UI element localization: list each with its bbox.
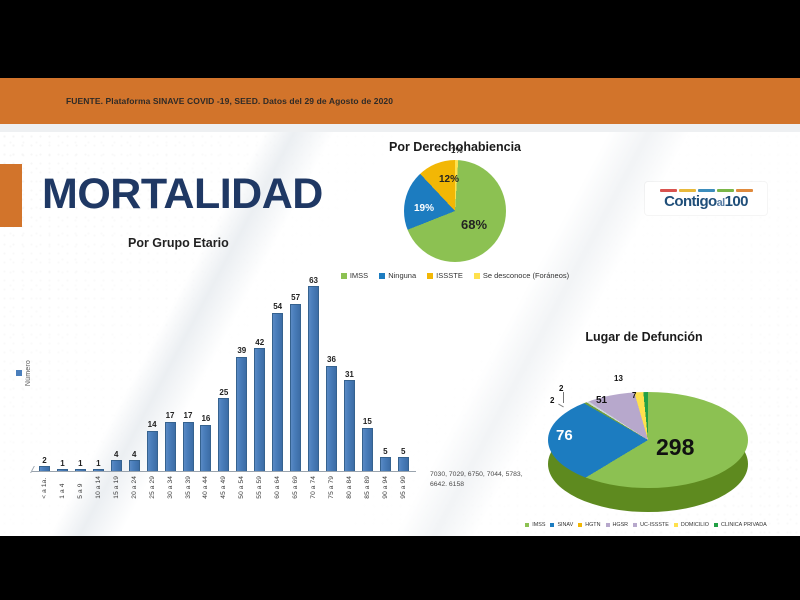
- x-tick: 80 a 84: [343, 476, 356, 499]
- pie2-leader-line-1: [563, 392, 564, 403]
- legend-color-swatch-icon: [379, 273, 385, 279]
- pie2-legend-item: UC-ISSSTE: [633, 522, 669, 528]
- pie1-legend-item: IMSS: [341, 271, 368, 280]
- y-axis-label: Número: [25, 360, 32, 386]
- page-title: MORTALIDAD: [42, 170, 323, 219]
- x-tick: 1 a 4: [56, 476, 69, 499]
- bar-value-label: 15: [363, 418, 372, 426]
- pie2-legend-item: SINAV: [550, 522, 573, 528]
- bar-column: 42: [253, 264, 266, 472]
- bar-rect: [326, 366, 337, 472]
- bar-column: 16: [199, 264, 212, 472]
- pie1-value-issste: 12%: [439, 174, 459, 185]
- x-tick: 30 a 34: [164, 476, 177, 499]
- bar-value-label: 25: [219, 389, 228, 397]
- x-tick-label: 50 a 54: [238, 476, 245, 499]
- logo-dash: [698, 189, 715, 192]
- pie2-legend-label: HGSR: [613, 522, 629, 528]
- slide-viewport: FUENTE. Plataforma SINAVE COVID -19, SEE…: [0, 0, 800, 600]
- pie2-legend-label: UC-ISSSTE: [640, 522, 669, 528]
- logo-text-contigo: Contigo: [664, 193, 716, 210]
- pie2-value-ucissste: 2: [550, 397, 554, 405]
- pie2-value-clinica-privada: 7: [632, 392, 636, 400]
- x-tick-label: 45 a 49: [220, 476, 227, 499]
- x-tick-label: 30 a 34: [167, 476, 174, 499]
- pie2-legend-item: DOMICILIO: [674, 522, 709, 528]
- bar-column: 39: [235, 264, 248, 472]
- bar-rect: [200, 425, 211, 472]
- pie2-legend-item: IMSS: [525, 522, 545, 528]
- x-tick: 5 a 9: [74, 476, 87, 499]
- x-tick: 60 a 64: [271, 476, 284, 499]
- pie1-value-desconoce: 1%: [451, 146, 463, 155]
- bar-value-label: 4: [132, 451, 136, 459]
- bar-value-label: 17: [166, 412, 175, 420]
- bar-column: 2: [38, 264, 51, 472]
- letterbox-top: [0, 0, 800, 78]
- pie1-value-imss: 68%: [461, 217, 487, 232]
- x-tick-label: 55 a 59: [256, 476, 263, 499]
- bar-rect: [344, 380, 355, 472]
- x-tick-label: 15 a 19: [113, 476, 120, 499]
- logo-text-al: al: [717, 197, 725, 209]
- x-tick: < a 1a.: [38, 476, 51, 499]
- x-tick-label: 65 a 69: [292, 476, 299, 499]
- pie1-legend-label: Ninguna: [388, 271, 416, 280]
- legend-color-swatch-icon: [578, 523, 582, 527]
- bar-value-label: 1: [78, 460, 82, 468]
- y-axis-legend: Número: [16, 360, 32, 386]
- logo-wordmark: Contigoal100: [664, 194, 748, 209]
- legend-color-swatch-icon: [550, 523, 554, 527]
- x-tick: 70 a 74: [307, 476, 320, 499]
- bar-column: 25: [217, 264, 230, 472]
- bar-value-label: 5: [383, 448, 387, 456]
- pie2-value-hgsr: 51: [596, 396, 607, 406]
- x-tick-label: 90 a 94: [382, 476, 389, 499]
- contigo-al-100-logo: Contigoal100: [645, 182, 767, 215]
- x-tick: 85 a 89: [361, 476, 374, 499]
- legend-color-swatch-icon: [474, 273, 480, 279]
- bar-value-label: 42: [255, 339, 264, 347]
- logo-dash: [717, 189, 734, 192]
- logo-text-100: 100: [725, 193, 748, 210]
- x-tick: 45 a 49: [217, 476, 230, 499]
- x-tick: 95 a 99: [397, 476, 410, 499]
- bar-value-label: 5: [401, 448, 405, 456]
- bar-rect: [236, 357, 247, 472]
- pie2-value-domicilio: 13: [614, 375, 623, 383]
- bar-value-label: 39: [237, 347, 246, 355]
- slide-content: MORTALIDAD Contigoal100 Por Grupo Etario…: [0, 132, 800, 536]
- bar-value-label: 63: [309, 277, 318, 285]
- pie2-legend-label: SINAV: [557, 522, 573, 528]
- bar-column: 14: [146, 264, 159, 472]
- source-band: FUENTE. Plataforma SINAVE COVID -19, SEE…: [0, 78, 800, 124]
- bar-column: 1: [74, 264, 87, 472]
- bar-rect: [254, 348, 265, 472]
- x-tick: 40 a 44: [199, 476, 212, 499]
- pie1-legend: IMSSNingunaISSSTESe desconoce (Foráneos): [330, 271, 580, 280]
- pie1-value-ninguna: 19%: [414, 203, 434, 214]
- title-accent-block: [0, 164, 22, 227]
- pie1-graphic: 68% 19% 12% 1%: [404, 160, 506, 262]
- bar-value-label: 4: [114, 451, 118, 459]
- bar-rect: [272, 313, 283, 472]
- x-axis-tick-labels: < a 1a.1 a 45 a 910 a 1415 a 1920 a 2425…: [38, 476, 410, 499]
- bar-column: 4: [110, 264, 123, 472]
- pie2-top-face: [548, 392, 748, 488]
- bar-column: 54: [271, 264, 284, 472]
- pie2-legend-item: CLINICA PRIVADA: [714, 522, 767, 528]
- pie2-legend-item: HGSR: [606, 522, 629, 528]
- bar-chart-title: Por Grupo Etario: [128, 236, 229, 250]
- pie2-graphic: 298 76 51 13 7 2 2: [488, 344, 800, 519]
- x-tick-label: 5 a 9: [77, 476, 84, 499]
- legend-color-swatch-icon: [714, 523, 718, 527]
- x-tick-label: 35 a 39: [185, 476, 192, 499]
- legend-color-swatch-icon: [633, 523, 637, 527]
- pie1-legend-label: IMSS: [350, 271, 368, 280]
- x-tick-label: < a 1a.: [41, 476, 48, 499]
- bar-rect: [398, 457, 409, 472]
- x-tick-label: 85 a 89: [364, 476, 371, 499]
- x-tick-label: 20 a 24: [131, 476, 138, 499]
- x-tick-label: 60 a 64: [274, 476, 281, 499]
- x-tick: 55 a 59: [253, 476, 266, 499]
- pie2-note: 7030, 7029, 6750, 7044, 5783, 6642. 6158: [430, 470, 540, 490]
- bar-rect: [183, 422, 194, 472]
- pie2-title: Lugar de Defunción: [488, 330, 800, 344]
- bar-value-label: 17: [184, 412, 193, 420]
- legend-color-swatch-icon: [525, 523, 529, 527]
- x-tick: 35 a 39: [182, 476, 195, 499]
- bar-value-label: 36: [327, 356, 336, 364]
- x-tick: 90 a 94: [379, 476, 392, 499]
- x-tick: 65 a 69: [289, 476, 302, 499]
- pie2-value-imss: 298: [656, 436, 694, 459]
- logo-dash: [736, 189, 753, 192]
- pie2-legend-item: HGTN: [578, 522, 600, 528]
- bar-rect: [165, 422, 176, 472]
- pie1-legend-item: Se desconoce (Foráneos): [474, 271, 569, 280]
- bar-value-label: 57: [291, 294, 300, 302]
- bar-column: 17: [164, 264, 177, 472]
- x-tick-label: 95 a 99: [400, 476, 407, 499]
- pie2-value-sinav: 76: [556, 428, 573, 443]
- pie2-legend-label: IMSS: [532, 522, 545, 528]
- bar-column: 57: [289, 264, 302, 472]
- letterbox-bottom: [0, 536, 800, 600]
- legend-color-swatch-icon: [427, 273, 433, 279]
- legend-color-swatch-icon: [341, 273, 347, 279]
- x-tick-label: 75 a 79: [328, 476, 335, 499]
- bar-value-label: 16: [201, 415, 210, 423]
- pie2-legend-label: DOMICILIO: [681, 522, 709, 528]
- x-tick-label: 10 a 14: [95, 476, 102, 499]
- bar-value-label: 54: [273, 303, 282, 311]
- logo-dash: [660, 189, 677, 192]
- logo-dash: [679, 189, 696, 192]
- bar-value-label: 14: [148, 421, 157, 429]
- x-tick-label: 25 a 29: [149, 476, 156, 499]
- pie2-legend: IMSSSINAVHGTNHGSRUC-ISSSTEDOMICILIOCLINI…: [492, 522, 800, 528]
- pie1-legend-label: Se desconoce (Foráneos): [483, 271, 569, 280]
- legend-color-swatch-icon: [674, 523, 678, 527]
- pie2-legend-label: HGTN: [585, 522, 600, 528]
- x-tick-label: 1 a 4: [59, 476, 66, 499]
- pie-chart-derechohabiencia: Por Derechohabiencia 68% 19% 12% 1% IMSS…: [330, 140, 580, 315]
- logo-dashes: [660, 189, 753, 192]
- pie1-legend-item: Ninguna: [379, 271, 416, 280]
- x-tick: 25 a 29: [146, 476, 159, 499]
- bar-column: 17: [182, 264, 195, 472]
- bar-value-label: 31: [345, 371, 354, 379]
- bar-rect: [362, 428, 373, 472]
- pie1-legend-item: ISSSTE: [427, 271, 463, 280]
- x-tick: 15 a 19: [110, 476, 123, 499]
- bar-rect: [218, 398, 229, 472]
- pie2-leader-line-2: [558, 404, 564, 408]
- x-tick-label: 40 a 44: [202, 476, 209, 499]
- bar-value-label: 1: [60, 460, 64, 468]
- x-tick: 50 a 54: [235, 476, 248, 499]
- series-color-swatch-icon: [16, 370, 22, 376]
- x-tick: 20 a 24: [128, 476, 141, 499]
- x-tick: 75 a 79: [325, 476, 338, 499]
- x-tick-label: 80 a 84: [346, 476, 353, 499]
- bar-column: 1: [56, 264, 69, 472]
- bar-column: 63: [307, 264, 320, 472]
- pie-chart-lugar-defuncion: Lugar de Defunción 298 76 51 13 7 2 2: [488, 330, 800, 536]
- header-divider: [0, 124, 800, 132]
- bar-value-label: 2: [42, 457, 46, 465]
- x-tick-label: 70 a 74: [310, 476, 317, 499]
- x-axis-line: [32, 471, 416, 472]
- bar-rect: [290, 304, 301, 472]
- bar-column: 4: [128, 264, 141, 472]
- bar-rect: [380, 457, 391, 472]
- bar-rect: [147, 431, 158, 472]
- bar-rect: [308, 286, 319, 472]
- source-text: FUENTE. Plataforma SINAVE COVID -19, SEE…: [66, 96, 393, 106]
- x-tick: 10 a 14: [92, 476, 105, 499]
- bar-column: 1: [92, 264, 105, 472]
- bar-value-label: 1: [96, 460, 100, 468]
- pie1-legend-label: ISSSTE: [436, 271, 463, 280]
- legend-color-swatch-icon: [606, 523, 610, 527]
- pie2-legend-label: CLINICA PRIVADA: [721, 522, 767, 528]
